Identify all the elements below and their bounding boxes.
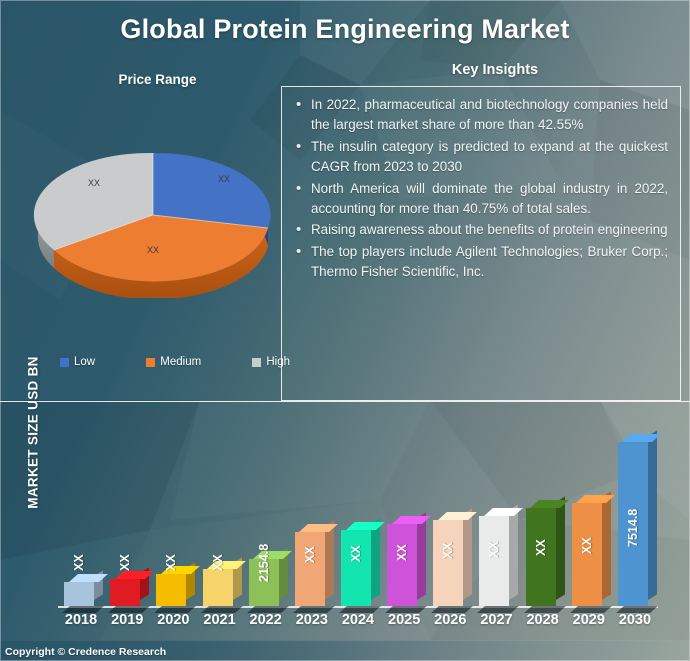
bar-2021: XX (203, 569, 233, 606)
y-axis-label: MARKET SIZE USD BN (26, 353, 41, 513)
x-tick-2029: 2029 (567, 612, 611, 628)
bar-value-label: XX (295, 526, 325, 584)
bar-2028: XX (526, 508, 556, 606)
legend-label-low: Low (74, 356, 95, 368)
bar-2019: XX (110, 579, 140, 606)
x-tick-2020: 2020 (151, 612, 195, 628)
key-insight-item: In 2022, pharmaceutical and biotechnolog… (294, 95, 668, 136)
x-tick-2030: 2030 (613, 612, 657, 628)
bar-value-label: 7514.8 (618, 499, 648, 557)
bar-value-label: XX (479, 521, 509, 579)
bar-2027: XX (479, 516, 509, 606)
pie-slice-label-medium: XX (147, 245, 159, 255)
x-tick-2024: 2024 (336, 612, 380, 628)
x-tick-2028: 2028 (521, 612, 565, 628)
pie-slice-label-low: XX (218, 174, 230, 184)
bar-2023: XX (295, 532, 325, 606)
bar-value-label: XX (433, 522, 463, 580)
bar-value-label: XX (64, 534, 94, 592)
key-insights-list: In 2022, pharmaceutical and biotechnolog… (282, 87, 680, 282)
bar-value-label: XX (387, 524, 417, 582)
bar-side-face (602, 491, 611, 600)
bar-2025: XX (387, 524, 417, 606)
key-insights-title: Key Insights (330, 62, 660, 78)
key-insight-item: Raising awareness about the benefits of … (294, 220, 668, 240)
pie-legend: Low Medium High (60, 352, 290, 372)
key-insight-item: The insulin category is predicted to exp… (294, 137, 668, 178)
infographic-root: Global Protein Engineering Market Price … (0, 0, 690, 661)
bar-series: XXXXXXXX2154.8XXXXXXXXXXXXXX7514.8 (58, 425, 658, 606)
bar-2020: XX (156, 574, 186, 606)
x-tick-2027: 2027 (474, 612, 518, 628)
bar-2026: XX (433, 520, 463, 606)
price-range-pie-chart: XX XX XX (22, 128, 284, 298)
x-tick-2025: 2025 (382, 612, 426, 628)
bar-side-face (509, 504, 518, 600)
key-insight-item: The top players include Agilent Technolo… (294, 242, 668, 283)
bar-2030: 7514.8 (618, 442, 648, 606)
x-tick-2022: 2022 (244, 612, 288, 628)
bar-2018: XX (64, 582, 94, 606)
bar-2029: XX (572, 503, 602, 606)
bar-2022: 2154.8 (249, 559, 279, 606)
bar-value-label: XX (341, 525, 371, 583)
bar-side-face (648, 431, 657, 600)
bar-value-label: XX (572, 517, 602, 575)
x-tick-2018: 2018 (59, 612, 103, 628)
legend-swatch-medium (146, 358, 155, 367)
bar-value-label: XX (203, 534, 233, 592)
title-banner: Global Protein Engineering Market (0, 0, 690, 60)
x-tick-2026: 2026 (428, 612, 472, 628)
bar-side-face (371, 518, 380, 600)
pie-chart-title: Price Range (75, 72, 240, 87)
page-title: Global Protein Engineering Market (0, 14, 690, 45)
x-tick-2023: 2023 (290, 612, 334, 628)
pie-slice-label-high: XX (88, 178, 100, 188)
x-axis-ticks: 2018201920202021202220232024202520262027… (58, 612, 658, 634)
copyright-text: Copyright © Credence Research (5, 646, 166, 658)
legend-item-medium[interactable]: Medium (146, 356, 201, 368)
bar-side-face (463, 508, 472, 600)
key-insights-panel: In 2022, pharmaceutical and biotechnolog… (281, 86, 681, 401)
bar-value-label: XX (526, 519, 556, 577)
bar-value-label: 2154.8 (249, 534, 279, 592)
legend-item-low[interactable]: Low (60, 356, 95, 368)
legend-label-medium: Medium (160, 356, 201, 368)
x-tick-2021: 2021 (198, 612, 242, 628)
bar-side-face (417, 513, 426, 600)
bar-side-face (325, 520, 334, 600)
bar-side-face (556, 496, 565, 600)
bar-2024: XX (341, 530, 371, 606)
bar-value-label: XX (110, 534, 140, 592)
x-tick-2019: 2019 (105, 612, 149, 628)
key-insight-item: North America will dominate the global i… (294, 179, 668, 220)
legend-swatch-low (60, 358, 69, 367)
legend-swatch-high (252, 358, 261, 367)
bar-value-label: XX (156, 534, 186, 592)
